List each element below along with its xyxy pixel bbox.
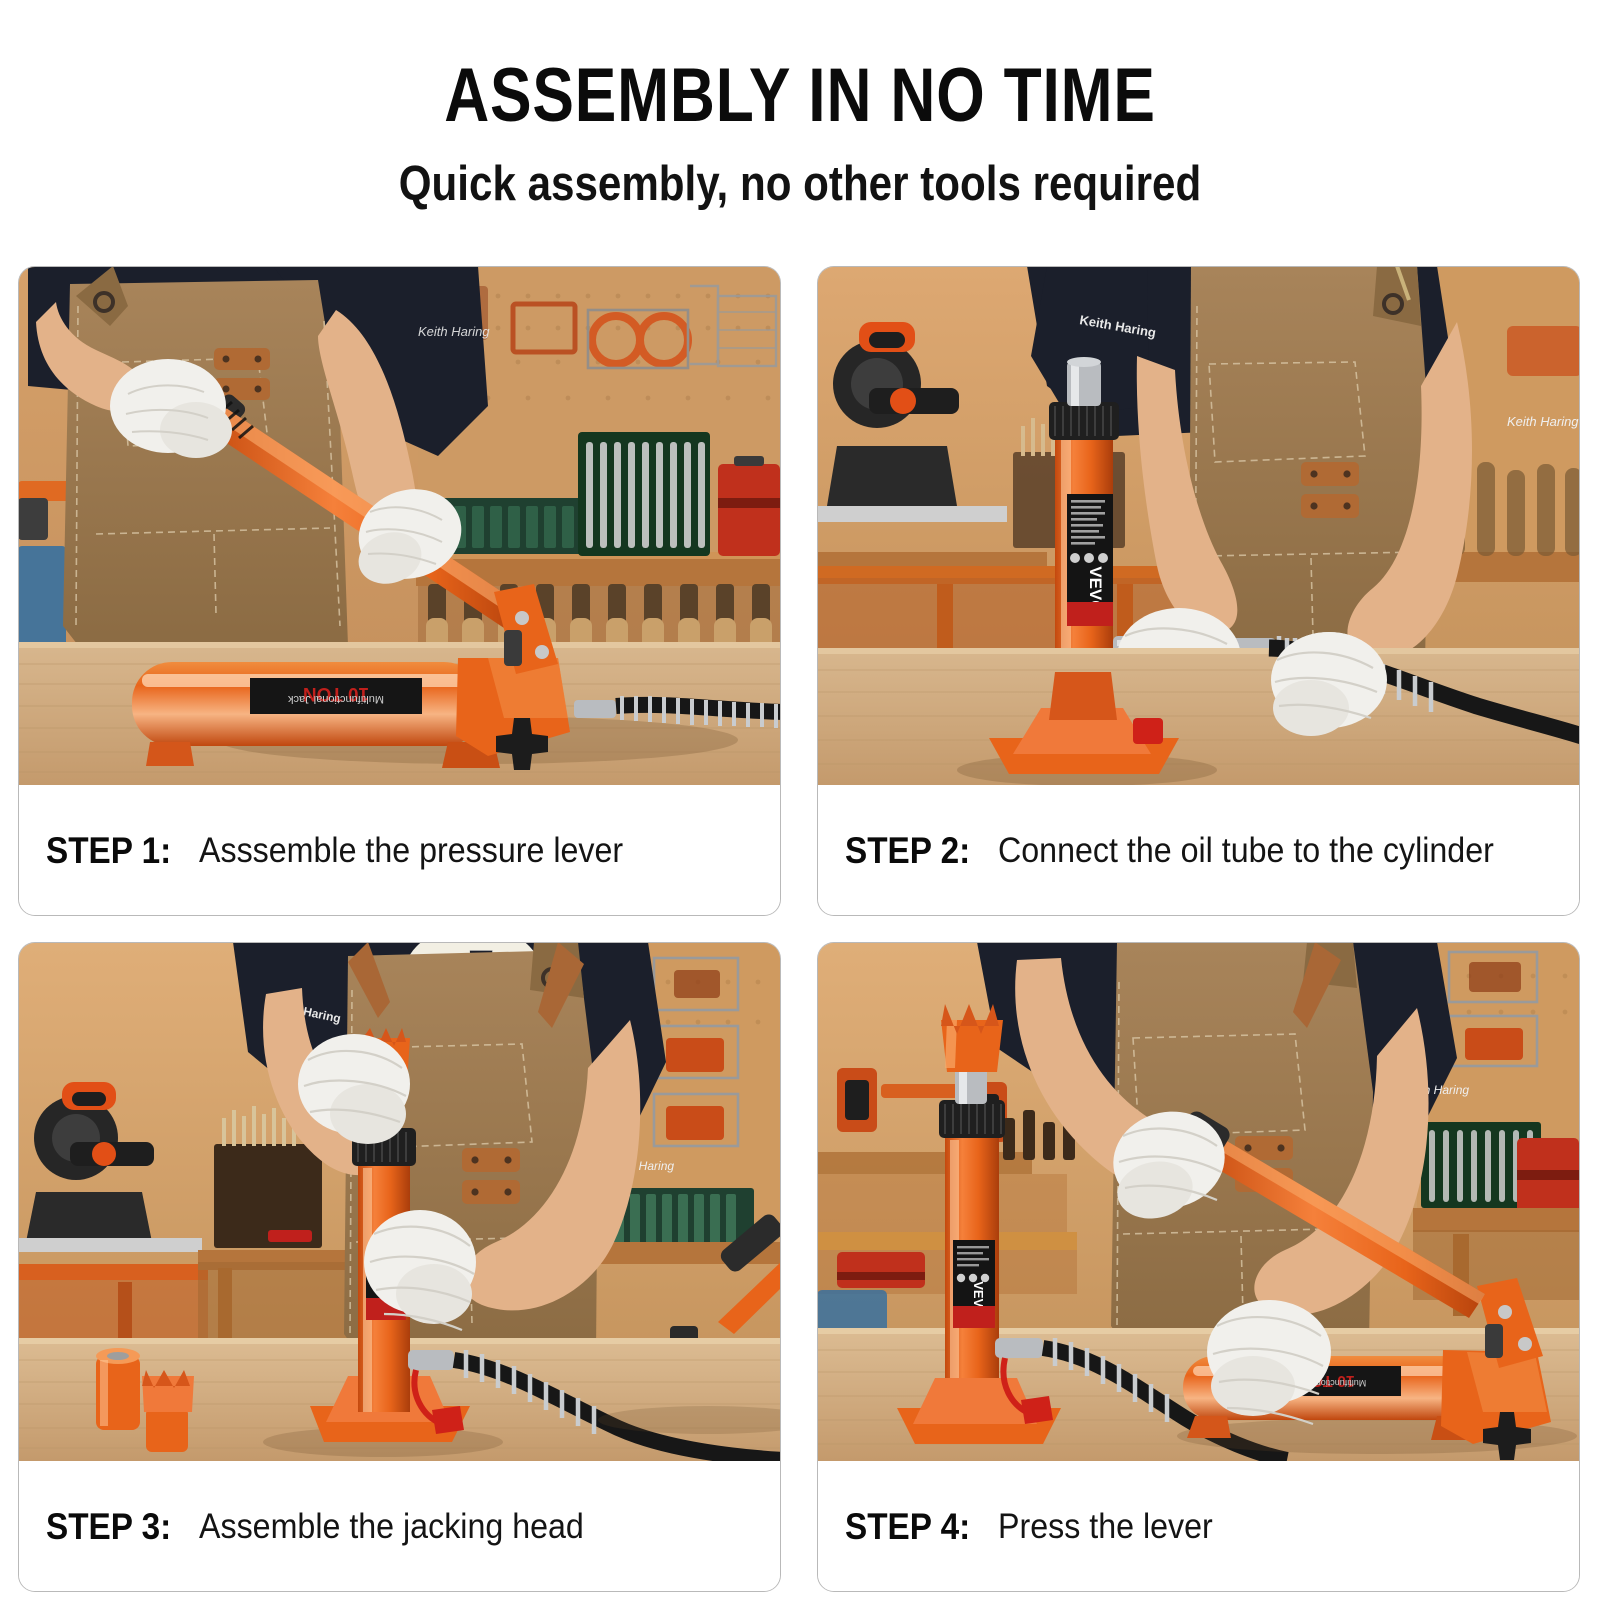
step-card-3: #ロへリ Keith Haring Keith Haring bbox=[18, 942, 781, 1592]
step-label-2: STEP 2: bbox=[845, 830, 970, 872]
step-label-4: STEP 4: bbox=[845, 1506, 970, 1548]
header: ASSEMBLY IN NO TIME Quick assembly, no o… bbox=[0, 0, 1600, 209]
step-label-1: STEP 1: bbox=[46, 830, 171, 872]
infographic-page: ASSEMBLY IN NO TIME Quick assembly, no o… bbox=[0, 0, 1600, 1600]
step-card-4: きへリ Keith Haring bbox=[817, 942, 1580, 1592]
step-text-3: Assemble the jacking head bbox=[199, 1507, 584, 1547]
step-photo-1: Keith Haring bbox=[18, 266, 781, 785]
step-photo-3: #ロへリ Keith Haring Keith Haring bbox=[18, 942, 781, 1461]
step-caption-4: STEP 4: Press the lever bbox=[818, 1462, 1580, 1592]
step-card-1: Keith Haring bbox=[18, 266, 781, 916]
step-photo-4: きへリ Keith Haring bbox=[817, 942, 1580, 1461]
step-text-2: Connect the oil tube to the cylinder bbox=[998, 831, 1494, 871]
step-caption-1: STEP 1: Asssemble the pressure lever bbox=[19, 786, 781, 916]
step-label-3: STEP 3: bbox=[46, 1506, 171, 1548]
page-title: ASSEMBLY IN NO TIME bbox=[144, 58, 1456, 134]
step-caption-3: STEP 3: Assemble the jacking head bbox=[19, 1462, 781, 1592]
svg-text:Multifunctional Jack: Multifunctional Jack bbox=[288, 693, 384, 705]
step-photo-2: Keith Haring Keith Haring bbox=[817, 266, 1580, 785]
svg-text:Keith Haring: Keith Haring bbox=[1507, 414, 1579, 429]
svg-text:Keith Haring: Keith Haring bbox=[418, 324, 490, 339]
step-caption-2: STEP 2: Connect the oil tube to the cyli… bbox=[818, 786, 1580, 916]
step-text-1: Asssemble the pressure lever bbox=[199, 831, 623, 871]
page-subtitle: Quick assembly, no other tools required bbox=[112, 160, 1488, 209]
step-card-2: Keith Haring Keith Haring bbox=[817, 266, 1580, 916]
steps-grid: Keith Haring bbox=[18, 266, 1582, 1592]
step-text-4: Press the lever bbox=[998, 1507, 1213, 1547]
